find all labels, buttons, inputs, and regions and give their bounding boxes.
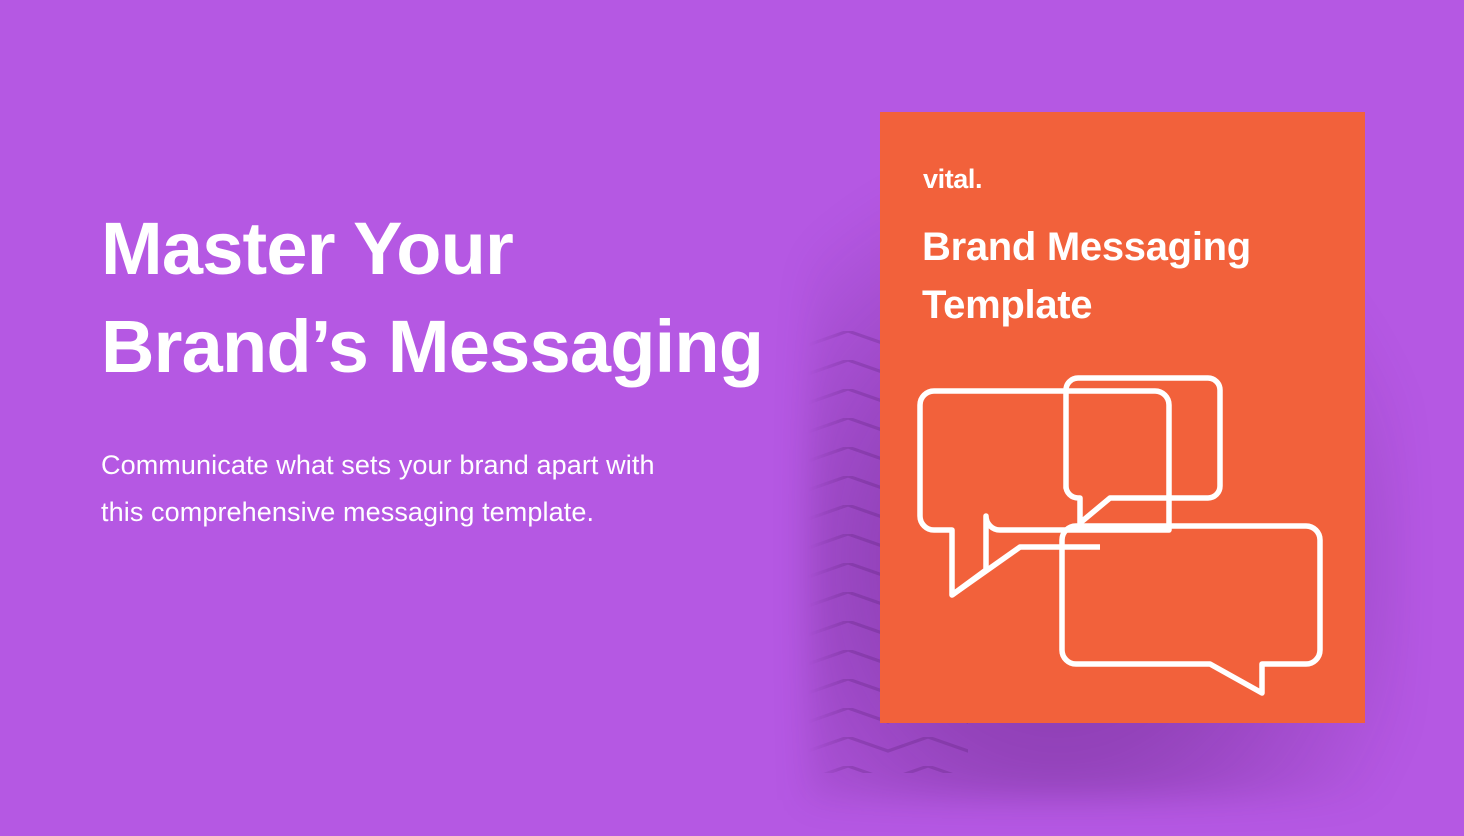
- vital-logo: vital.: [923, 164, 982, 195]
- cover-title: Brand Messaging Template: [922, 218, 1322, 334]
- speech-bubble-large-tail: [952, 547, 1100, 595]
- ebook-cover-card[interactable]: vital. Brand Messaging Template: [880, 112, 1365, 723]
- page-title: Master Your Brand’s Messaging: [101, 200, 801, 396]
- speech-bubble-front: [1062, 526, 1320, 693]
- speech-bubble-small: [1066, 378, 1220, 523]
- speech-bubbles-illustration: [910, 350, 1340, 700]
- page-subtitle: Communicate what sets your brand apart w…: [101, 442, 801, 536]
- speech-bubble-large: [920, 391, 1169, 595]
- copy-block: Master Your Brand’s Messaging Communicat…: [101, 200, 801, 536]
- promo-banner: Master Your Brand’s Messaging Communicat…: [0, 0, 1464, 836]
